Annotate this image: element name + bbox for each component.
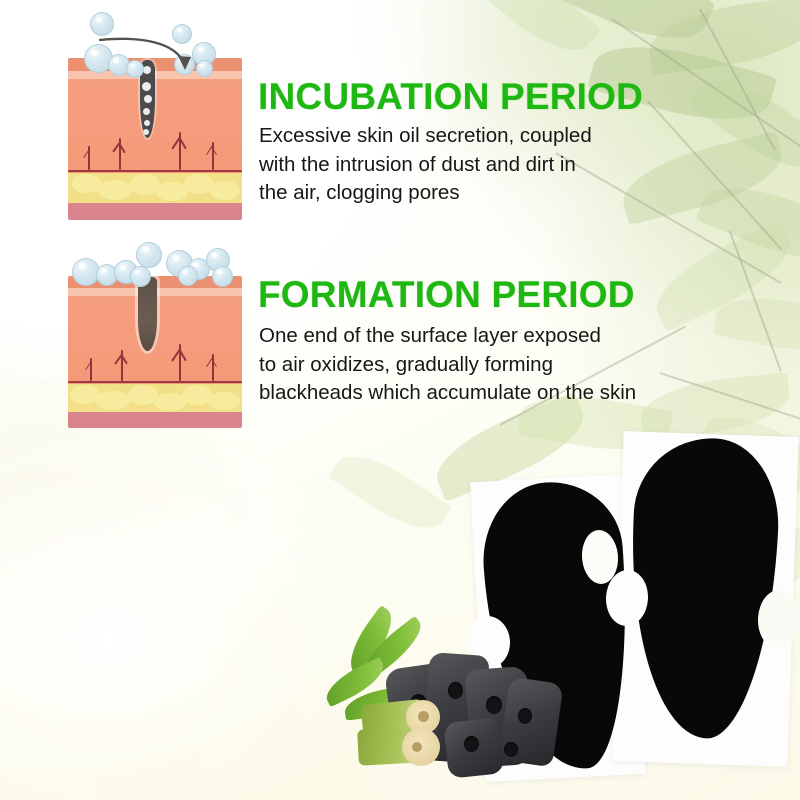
pore-debris bbox=[142, 82, 151, 91]
capillary bbox=[82, 146, 96, 170]
oil-bubble bbox=[130, 266, 151, 287]
watermark-leaf bbox=[328, 440, 452, 544]
fat-cell bbox=[98, 180, 132, 200]
pore-debris bbox=[143, 108, 150, 115]
charcoal-hollow bbox=[464, 736, 479, 752]
capillary bbox=[204, 142, 222, 170]
fat-cell bbox=[96, 391, 130, 410]
body-line: to air oxidizes, gradually forming bbox=[259, 351, 636, 380]
blood-vessel-line bbox=[68, 381, 242, 383]
direction-arrow-icon bbox=[98, 34, 208, 80]
skin-layer-base bbox=[68, 203, 242, 220]
oil-bubble bbox=[212, 266, 233, 287]
fat-cell bbox=[210, 181, 240, 200]
fat-cell bbox=[208, 392, 240, 410]
capillary bbox=[84, 358, 98, 381]
diagram-incubation-period bbox=[66, 2, 246, 224]
charcoal-hollow bbox=[486, 696, 502, 714]
oil-bubble bbox=[90, 12, 114, 36]
skin-cross-section bbox=[68, 276, 242, 428]
skin-cross-section bbox=[68, 58, 242, 220]
section-heading-formation: FORMATION PERIOD bbox=[258, 276, 635, 313]
charcoal-hollow bbox=[518, 708, 532, 724]
skin-layer-base bbox=[68, 412, 242, 428]
oil-bubble bbox=[136, 242, 162, 268]
blackhead-plug bbox=[138, 277, 157, 351]
pore-debris bbox=[144, 120, 150, 126]
body-line: One end of the surface layer exposed bbox=[259, 322, 636, 351]
section-body-incubation: Excessive skin oil secretion, coupled wi… bbox=[259, 122, 592, 208]
section-heading-incubation: INCUBATION PERIOD bbox=[258, 78, 643, 115]
capillary bbox=[168, 132, 192, 170]
oil-bubble bbox=[178, 266, 198, 286]
bamboo-hollow bbox=[412, 742, 422, 752]
ingredient-bamboo-charcoal bbox=[318, 624, 568, 800]
blood-vessel-line bbox=[68, 170, 242, 172]
watermark-leaf bbox=[469, 0, 601, 68]
capillary bbox=[110, 138, 130, 170]
body-line: the air, clogging pores bbox=[259, 179, 592, 208]
body-line: with the intrusion of dust and dirt in bbox=[259, 151, 592, 180]
charcoal-hollow bbox=[504, 742, 518, 757]
diagram-formation-period bbox=[66, 236, 246, 428]
bamboo-hollow bbox=[418, 711, 429, 722]
capillary bbox=[168, 344, 192, 381]
capillary bbox=[112, 350, 132, 381]
body-line: Excessive skin oil secretion, coupled bbox=[259, 122, 592, 151]
charcoal-hollow bbox=[448, 682, 463, 699]
capillary bbox=[204, 354, 222, 381]
infographic-canvas: INCUBATION PERIOD Excessive skin oil sec… bbox=[0, 0, 800, 800]
section-body-formation: One end of the surface layer exposed to … bbox=[259, 322, 636, 408]
pore-debris bbox=[144, 95, 152, 103]
pore-debris bbox=[143, 129, 149, 135]
body-line: blackheads which accumulate on the skin bbox=[259, 379, 636, 408]
